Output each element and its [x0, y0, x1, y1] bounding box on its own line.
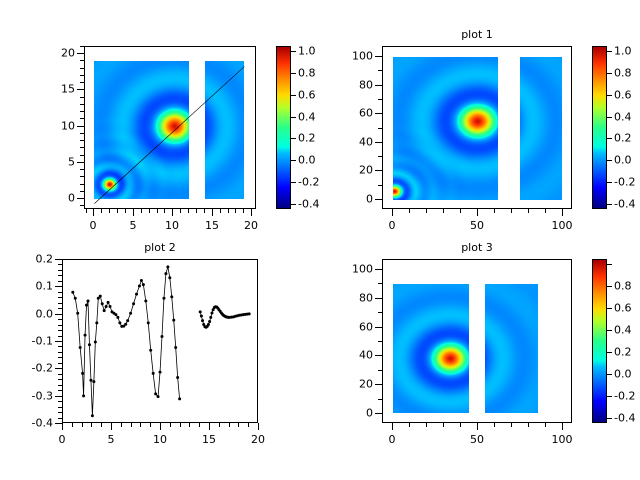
plot2-marker — [105, 305, 108, 308]
colorbar-tick-label: -0.2 — [298, 176, 319, 189]
plot2-marker — [103, 309, 106, 312]
heatmap-block — [205, 61, 244, 199]
x-minor-tick — [228, 209, 229, 213]
colorbar-tick-label: 0.4 — [298, 111, 316, 124]
y-tick-label: 20 — [52, 47, 75, 60]
colorbar-topright[interactable]: 1.00.80.60.40.20.0-0.2-0.4 — [592, 46, 640, 209]
x-minor-tick — [131, 423, 132, 427]
x-minor-tick — [494, 423, 495, 427]
x-minor-tick — [220, 209, 221, 213]
y-minor-tick — [80, 82, 84, 83]
x-tick-label: 20 — [244, 219, 258, 232]
colorbar-tick — [607, 138, 612, 139]
x-tick-label: 5 — [130, 219, 137, 232]
plot2-marker — [142, 283, 145, 286]
x-tick-label: 0 — [389, 219, 396, 232]
plot2-marker — [99, 295, 102, 298]
plot2-marker — [91, 414, 94, 417]
colorbar-tick — [291, 138, 296, 139]
y-major-tick — [77, 53, 84, 54]
y-minor-tick — [58, 308, 62, 309]
y-tick-label: 0 — [350, 193, 373, 206]
y-minor-tick — [378, 70, 382, 71]
colorbar-tick-label: 0.4 — [614, 324, 632, 337]
colorbar-tick — [607, 308, 612, 309]
plot2-marker — [132, 302, 135, 305]
x-tick-label: 15 — [205, 219, 219, 232]
colorbar-bottomright-gradient — [592, 259, 607, 423]
colorbar-tick — [607, 204, 612, 205]
plot2-marker — [147, 321, 150, 324]
colorbar-tick — [291, 160, 296, 161]
plot2-marker — [86, 300, 89, 303]
colorbar-tick-label: 0.8 — [614, 67, 632, 80]
y-minor-tick — [80, 140, 84, 141]
plot2-marker — [135, 293, 138, 296]
x-minor-tick — [189, 423, 190, 427]
y-tick-label: 80 — [350, 79, 373, 92]
y-tick-label: 0.0 — [30, 308, 53, 321]
colorbar-tick — [291, 73, 296, 74]
heatmap-block — [520, 57, 562, 200]
y-minor-tick — [58, 303, 62, 304]
y-major-tick — [375, 113, 382, 114]
y-minor-tick — [378, 156, 382, 157]
x-major-tick — [392, 423, 393, 430]
x-minor-tick — [460, 423, 461, 427]
colorbar-tick-label: 1.0 — [298, 45, 316, 58]
y-tick-label: 40 — [350, 136, 373, 149]
y-minor-tick — [80, 60, 84, 61]
x-minor-tick — [141, 209, 142, 213]
plot2-marker — [166, 265, 169, 268]
x-minor-tick — [494, 209, 495, 213]
y-tick-label: 80 — [350, 292, 373, 305]
y-minor-tick — [378, 128, 382, 129]
x-tick-label: 50 — [470, 219, 484, 232]
y-minor-tick — [58, 357, 62, 358]
y-minor-tick — [58, 363, 62, 364]
y-minor-tick — [58, 418, 62, 419]
axes-topleft[interactable] — [84, 46, 256, 209]
x-minor-tick — [170, 423, 171, 427]
x-minor-tick — [238, 423, 239, 427]
y-tick-label: 10 — [52, 120, 75, 133]
y-minor-tick — [58, 292, 62, 293]
x-minor-tick — [528, 209, 529, 213]
y-tick-label: 0 — [350, 407, 373, 420]
y-major-tick — [375, 355, 382, 356]
plot2-marker — [88, 343, 91, 346]
plot2-marker — [162, 297, 165, 300]
x-minor-tick — [188, 209, 189, 213]
plot2-marker — [114, 313, 117, 316]
y-minor-tick — [58, 401, 62, 402]
y-minor-tick — [58, 385, 62, 386]
x-minor-tick — [180, 423, 181, 427]
colorbar-tick-label: 0.2 — [614, 346, 632, 359]
y-minor-tick — [378, 399, 382, 400]
x-tick-label: 100 — [552, 433, 573, 446]
heatmap-block — [485, 284, 538, 413]
panel-bottomright-title: plot 3 — [382, 241, 572, 254]
x-minor-tick — [157, 209, 158, 213]
x-major-tick — [477, 209, 478, 216]
y-tick-label: 0.1 — [30, 280, 53, 293]
colorbar-tick-label: -0.2 — [614, 390, 635, 403]
plot2-marker — [81, 372, 84, 375]
plot2-marker — [248, 312, 251, 315]
y-major-tick — [375, 85, 382, 86]
y-minor-tick — [80, 75, 84, 76]
y-minor-tick — [58, 319, 62, 320]
x-minor-tick — [511, 209, 512, 213]
plot2-marker — [210, 312, 213, 315]
colorbar-tick-label: -0.4 — [614, 412, 635, 425]
y-major-tick — [375, 327, 382, 328]
y-minor-tick — [80, 205, 84, 206]
y-minor-tick — [378, 185, 382, 186]
y-minor-tick — [80, 155, 84, 156]
colorbar-tick-label: 0.0 — [614, 154, 632, 167]
y-tick-label: 100 — [350, 50, 373, 63]
colorbar-tick — [291, 182, 296, 183]
colorbar-tick — [607, 286, 612, 287]
y-tick-label: 20 — [350, 164, 373, 177]
y-minor-tick — [80, 104, 84, 105]
colorbar-topleft-gradient — [276, 46, 291, 209]
x-minor-tick — [117, 209, 118, 213]
y-minor-tick — [80, 184, 84, 185]
plot2-marker — [85, 304, 88, 307]
y-major-tick — [375, 413, 382, 414]
axes-bottomleft[interactable] — [62, 259, 258, 423]
x-major-tick — [62, 423, 63, 430]
plot2-marker — [95, 321, 98, 324]
plot2-marker — [176, 376, 179, 379]
plot2-marker — [159, 371, 162, 374]
colorbar-tick — [607, 95, 612, 96]
x-major-tick — [251, 209, 252, 216]
figure-canvas: 0510152005101520 1.00.80.60.40.20.0-0.2-… — [0, 0, 640, 480]
y-tick-label: 60 — [350, 321, 373, 334]
panel-topright-title: plot 1 — [382, 28, 572, 41]
plot2-marker — [129, 312, 132, 315]
x-tick-label: 100 — [552, 219, 573, 232]
colorbar-tick — [607, 264, 612, 265]
y-minor-tick — [80, 133, 84, 134]
colorbar-tick — [607, 117, 612, 118]
panel-bottomleft-title: plot 2 — [62, 241, 258, 254]
x-tick-label: 10 — [153, 433, 167, 446]
plot2-marker — [207, 323, 210, 326]
y-minor-tick — [378, 312, 382, 313]
colorbar-topright-gradient — [592, 46, 607, 209]
y-major-tick — [55, 286, 62, 287]
plot2-marker — [157, 395, 160, 398]
colorbar-bottomright[interactable]: 0.80.60.40.20.0-0.2-0.4 — [592, 259, 640, 423]
x-minor-tick — [426, 423, 427, 427]
y-major-tick — [375, 269, 382, 270]
colorbar-tick — [291, 51, 296, 52]
plot2-marker — [118, 321, 121, 324]
y-tick-label: 5 — [52, 156, 75, 169]
y-minor-tick — [58, 336, 62, 337]
colorbar-topleft[interactable]: 1.00.80.60.40.20.0-0.2-0.4 — [276, 46, 320, 209]
y-minor-tick — [58, 390, 62, 391]
y-tick-label: -0.1 — [30, 335, 53, 348]
y-tick-label: 20 — [350, 378, 373, 391]
y-tick-label: -0.3 — [30, 390, 53, 403]
y-minor-tick — [58, 270, 62, 271]
y-major-tick — [55, 314, 62, 315]
x-minor-tick — [121, 423, 122, 427]
x-minor-tick — [149, 209, 150, 213]
plot2-marker — [144, 300, 147, 303]
x-minor-tick — [248, 423, 249, 427]
plot2-marker — [82, 394, 85, 397]
x-minor-tick — [140, 423, 141, 427]
colorbar-tick — [607, 352, 612, 353]
x-minor-tick — [511, 423, 512, 427]
y-major-tick — [77, 126, 84, 127]
x-tick-label: 0 — [59, 433, 66, 446]
y-minor-tick — [58, 352, 62, 353]
x-minor-tick — [199, 423, 200, 427]
colorbar-tick — [607, 51, 612, 52]
colorbar-tick-label: 0.4 — [614, 111, 632, 124]
x-major-tick — [562, 209, 563, 216]
y-minor-tick — [80, 46, 84, 47]
y-minor-tick — [378, 99, 382, 100]
y-minor-tick — [58, 281, 62, 282]
y-major-tick — [375, 199, 382, 200]
y-minor-tick — [378, 370, 382, 371]
y-minor-tick — [58, 325, 62, 326]
plot2-marker — [149, 349, 152, 352]
y-major-tick — [375, 142, 382, 143]
x-minor-tick — [219, 423, 220, 427]
x-major-tick — [133, 209, 134, 216]
axes-bottomright[interactable] — [382, 259, 572, 423]
y-major-tick — [375, 170, 382, 171]
y-major-tick — [77, 198, 84, 199]
y-minor-tick — [378, 283, 382, 284]
y-minor-tick — [80, 111, 84, 112]
x-tick-label: 10 — [165, 219, 179, 232]
y-minor-tick — [378, 341, 382, 342]
colorbar-tick — [607, 160, 612, 161]
x-major-tick — [93, 209, 94, 216]
plot2-marker — [168, 276, 171, 279]
colorbar-tick — [607, 330, 612, 331]
plot2-polyline — [73, 267, 180, 416]
y-minor-tick — [58, 412, 62, 413]
x-minor-tick — [109, 209, 110, 213]
y-major-tick — [375, 384, 382, 385]
x-major-tick — [258, 423, 259, 430]
x-major-tick — [562, 423, 563, 430]
y-minor-tick — [58, 407, 62, 408]
colorbar-tick-label: 0.6 — [614, 89, 632, 102]
plot2-marker — [178, 397, 181, 400]
y-minor-tick — [58, 275, 62, 276]
colorbar-tick-label: 0.8 — [298, 67, 316, 80]
y-major-tick — [55, 396, 62, 397]
plot2-marker — [201, 319, 204, 322]
y-tick-label: 100 — [350, 263, 373, 276]
y-minor-tick — [58, 374, 62, 375]
panel-bottomleft: plot 2 051015200.20.10.0-0.1-0.2-0.3-0.4 — [0, 240, 320, 480]
x-major-tick — [172, 209, 173, 216]
plot2-marker — [116, 316, 119, 319]
plot2-marker — [76, 312, 79, 315]
y-minor-tick — [58, 297, 62, 298]
y-tick-label: 15 — [52, 83, 75, 96]
y-tick-label: -0.4 — [30, 417, 53, 430]
x-minor-tick — [150, 423, 151, 427]
x-minor-tick — [101, 423, 102, 427]
y-minor-tick — [58, 346, 62, 347]
colorbar-tick — [291, 95, 296, 96]
plot2-marker — [89, 379, 92, 382]
x-minor-tick — [82, 423, 83, 427]
colorbar-tick-label: 0.2 — [298, 132, 316, 145]
heatmap-block — [393, 284, 469, 413]
colorbar-tick — [607, 374, 612, 375]
plot2-marker — [84, 334, 87, 337]
y-minor-tick — [80, 68, 84, 69]
y-major-tick — [55, 368, 62, 369]
y-major-tick — [77, 162, 84, 163]
plot2-marker — [124, 323, 127, 326]
colorbar-tick — [607, 73, 612, 74]
x-tick-label: 15 — [202, 433, 216, 446]
y-minor-tick — [80, 147, 84, 148]
y-minor-tick — [80, 97, 84, 98]
x-tick-label: 5 — [108, 433, 115, 446]
x-minor-tick — [204, 209, 205, 213]
colorbar-tick — [291, 204, 296, 205]
plot2-marker — [140, 279, 143, 282]
y-tick-label: 60 — [350, 107, 373, 120]
plot2-marker — [160, 335, 163, 338]
x-tick-label: 0 — [389, 433, 396, 446]
plot2-marker — [71, 291, 74, 294]
plot2-marker — [174, 346, 177, 349]
x-minor-tick — [125, 209, 126, 213]
colorbar-tick-label: 0.8 — [614, 280, 632, 293]
panel-topright: plot 1 050100020406080100 1.00.80.60.40.… — [320, 0, 640, 240]
x-minor-tick — [443, 209, 444, 213]
plot2-marker — [126, 319, 129, 322]
y-major-tick — [375, 298, 382, 299]
plot2-marker — [172, 319, 175, 322]
y-minor-tick — [80, 191, 84, 192]
plot2-marker — [170, 295, 173, 298]
x-tick-label: 20 — [251, 433, 265, 446]
y-major-tick — [55, 259, 62, 260]
x-minor-tick — [72, 423, 73, 427]
x-minor-tick — [243, 209, 244, 213]
plot2-marker — [199, 310, 202, 313]
heatmap-block — [393, 57, 498, 200]
x-minor-tick — [426, 209, 427, 213]
colorbar-tick-label: 1.0 — [614, 45, 632, 58]
y-minor-tick — [58, 330, 62, 331]
plot2-marker — [209, 316, 212, 319]
x-minor-tick — [235, 209, 236, 213]
y-major-tick — [55, 423, 62, 424]
x-minor-tick — [86, 209, 87, 213]
plot2-marker — [154, 392, 157, 395]
plot2-marker — [92, 380, 95, 383]
panel-topleft: 0510152005101520 1.00.80.60.40.20.0-0.2-… — [0, 0, 320, 240]
plot2-marker — [74, 297, 77, 300]
x-minor-tick — [101, 209, 102, 213]
y-minor-tick — [80, 118, 84, 119]
y-major-tick — [77, 89, 84, 90]
plot2-marker — [107, 301, 110, 304]
colorbar-tick — [607, 182, 612, 183]
x-major-tick — [111, 423, 112, 430]
y-minor-tick — [80, 176, 84, 177]
plot2-marker — [94, 341, 97, 344]
x-major-tick — [160, 423, 161, 430]
x-major-tick — [392, 209, 393, 216]
x-minor-tick — [443, 423, 444, 427]
y-minor-tick — [80, 169, 84, 170]
colorbar-tick-label: 0.6 — [298, 89, 316, 102]
colorbar-tick — [607, 418, 612, 419]
x-minor-tick — [229, 423, 230, 427]
x-minor-tick — [180, 209, 181, 213]
y-minor-tick — [58, 379, 62, 380]
heatmap-block — [94, 61, 189, 199]
x-major-tick — [209, 423, 210, 430]
y-tick-label: 40 — [350, 349, 373, 362]
colorbar-tick-label: -0.4 — [614, 198, 635, 211]
colorbar-tick — [607, 396, 612, 397]
y-minor-tick — [58, 264, 62, 265]
x-major-tick — [212, 209, 213, 216]
plot2-marker — [208, 320, 211, 323]
plot2-marker — [101, 302, 104, 305]
x-minor-tick — [409, 423, 410, 427]
x-minor-tick — [545, 423, 546, 427]
x-minor-tick — [91, 423, 92, 427]
panel-bottomright: plot 3 050100020406080100 0.80.60.40.20.… — [320, 240, 640, 480]
colorbar-tick — [291, 117, 296, 118]
x-tick-label: 0 — [90, 219, 97, 232]
y-major-tick — [55, 341, 62, 342]
x-minor-tick — [545, 209, 546, 213]
plot2-marker — [152, 372, 155, 375]
colorbar-tick-label: 0.6 — [614, 302, 632, 315]
axes-topright[interactable] — [382, 46, 572, 209]
x-minor-tick — [460, 209, 461, 213]
colorbar-tick-label: 0.0 — [298, 154, 316, 167]
x-minor-tick — [196, 209, 197, 213]
y-tick-label: 0 — [52, 192, 75, 205]
y-major-tick — [375, 56, 382, 57]
plot2-marker — [109, 305, 112, 308]
plot2-marker — [200, 315, 203, 318]
colorbar-tick-label: 0.2 — [614, 132, 632, 145]
y-tick-label: -0.2 — [30, 362, 53, 375]
plot2-line-series — [63, 260, 258, 423]
x-minor-tick — [164, 209, 165, 213]
